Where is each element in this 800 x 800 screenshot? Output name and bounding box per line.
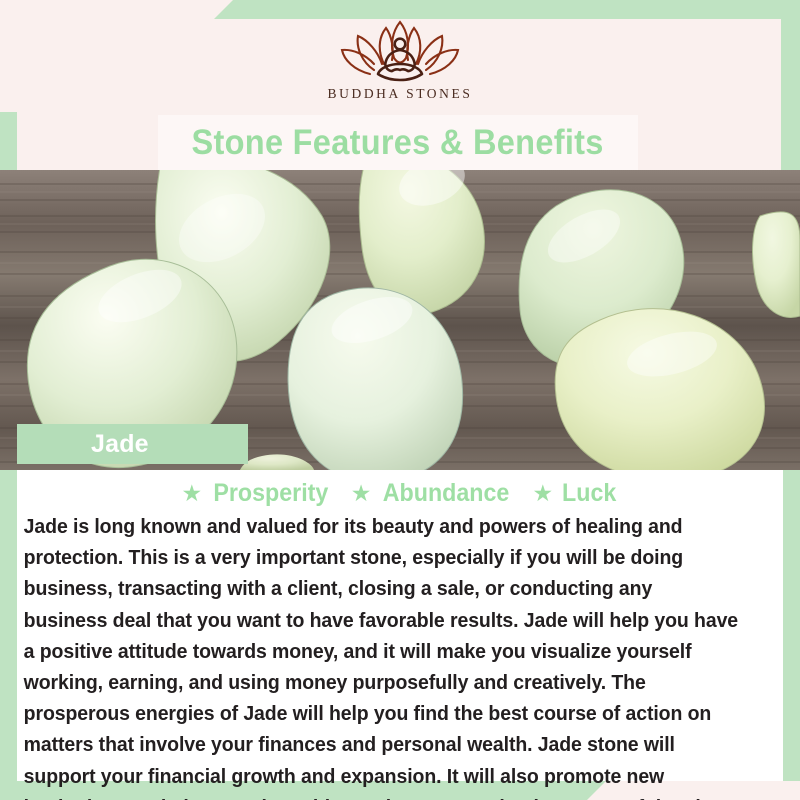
star-icon: ★ xyxy=(351,482,372,505)
keyword-label: Prosperity xyxy=(213,479,328,508)
brand-wordmark: BUDDHA STONES xyxy=(328,86,473,102)
keyword-item: ★ Luck xyxy=(533,479,619,508)
keyword-item: ★ Abundance xyxy=(351,479,515,508)
stone-name-label: Jade xyxy=(91,430,149,459)
content-panel: ★ Prosperity ★ Abundance ★ Luck Jade is … xyxy=(17,470,783,781)
star-icon: ★ xyxy=(533,482,554,505)
stone-name-badge: Jade xyxy=(17,424,248,464)
page-title: Stone Features & Benefits xyxy=(192,123,604,163)
keyword-label: Abundance xyxy=(383,479,510,508)
star-icon: ★ xyxy=(181,482,202,505)
keyword-item: ★ Prosperity xyxy=(181,479,332,508)
keyword-label: Luck xyxy=(562,479,616,508)
title-banner: Stone Features & Benefits xyxy=(158,115,638,170)
keyword-row: ★ Prosperity ★ Abundance ★ Luck xyxy=(17,474,783,512)
description-paragraph: Jade is long known and valued for its be… xyxy=(17,512,749,800)
brand-logo: BUDDHA STONES xyxy=(0,18,800,116)
stone-info-card: BUDDHA STONES Stone Features & Benefits xyxy=(0,0,800,800)
decor-band-top xyxy=(214,0,800,19)
lotus-meditation-icon xyxy=(334,18,466,84)
